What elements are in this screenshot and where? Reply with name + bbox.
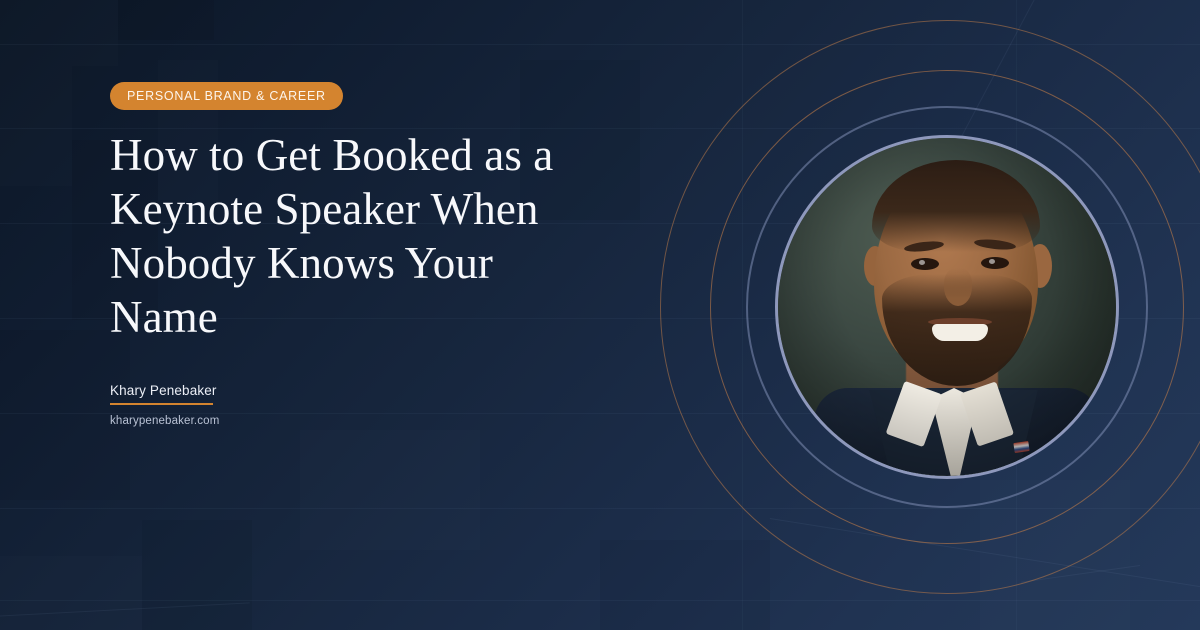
article-share-card: PERSONAL BRAND & CAREER How to Get Booke… xyxy=(0,0,1200,630)
texture-block xyxy=(0,66,72,186)
texture-block xyxy=(0,0,118,66)
author-byline: Khary Penebaker kharypenebaker.com xyxy=(110,383,219,427)
accent-diagonal xyxy=(770,518,1200,593)
portrait-photo xyxy=(778,138,1116,476)
grid-line xyxy=(742,0,743,630)
content-column: PERSONAL BRAND & CAREER How to Get Booke… xyxy=(110,0,630,630)
category-badge-label: PERSONAL BRAND & CAREER xyxy=(127,89,326,103)
author-name: Khary Penebaker xyxy=(110,383,219,403)
author-website[interactable]: kharypenebaker.com xyxy=(110,415,219,427)
accent-diagonal xyxy=(1021,565,1140,583)
portrait-vignette xyxy=(778,138,1116,476)
author-underline-rule xyxy=(110,403,213,405)
texture-block xyxy=(980,480,1130,630)
author-portrait xyxy=(775,135,1119,479)
category-badge[interactable]: PERSONAL BRAND & CAREER xyxy=(110,82,343,110)
page-title: How to Get Booked as a Keynote Speaker W… xyxy=(110,128,580,344)
